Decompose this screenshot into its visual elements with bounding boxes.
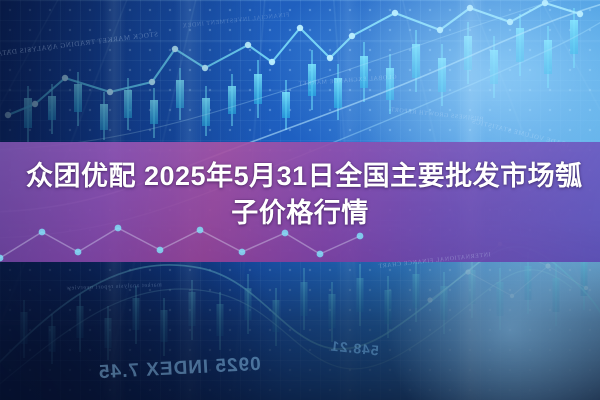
banner-title: 众团优配 2025年5月31日全国主要批发市场瓠 子价格行情: [0, 158, 600, 232]
title-line-1: 众团优配 2025年5月31日全国主要批发市场瓠: [26, 158, 574, 195]
banner-image: STOCK MARKET TRADING ANALYSIS DATA FINAN…: [0, 0, 600, 400]
title-line-2: 子价格行情: [26, 195, 574, 232]
